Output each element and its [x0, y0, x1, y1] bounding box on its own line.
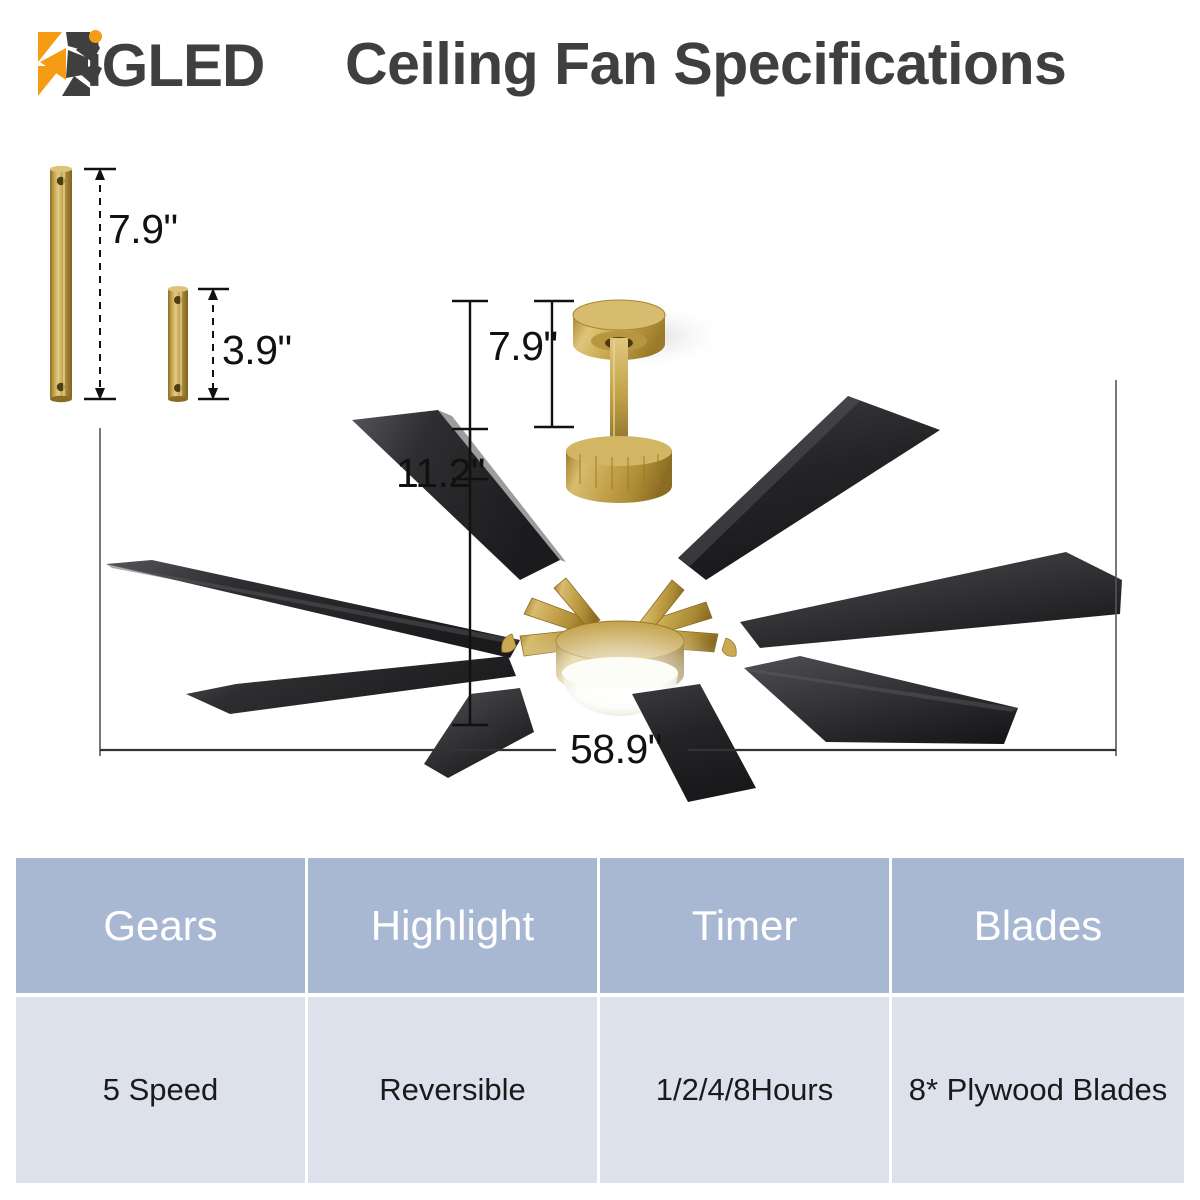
page-title: Ceiling Fan Specifications	[345, 30, 1066, 98]
table-header-row: Gears Highlight Timer Blades	[16, 858, 1184, 993]
column-header-highlight: Highlight	[308, 858, 600, 993]
cell-gears: 5 Speed	[16, 993, 308, 1183]
fan-blade	[424, 688, 534, 778]
page-header: iGLED Ceiling Fan Specifications	[0, 0, 1200, 128]
cell-highlight: Reversible	[308, 993, 600, 1183]
dimension-label-total-drop: 11.2"	[396, 450, 485, 497]
fan-blade	[744, 656, 1018, 744]
downrod-short-assembly	[168, 286, 188, 402]
brand-wordmark: iGLED	[86, 31, 264, 100]
logo-dot-icon	[89, 30, 102, 43]
fan-downrod	[610, 338, 628, 453]
dimension-label-motor-height: 7.9"	[488, 323, 558, 370]
fan-blade	[106, 564, 520, 644]
column-header-gears: Gears	[16, 858, 308, 993]
table-row: 5 Speed Reversible 1/2/4/8Hours 8* Plywo…	[16, 993, 1184, 1183]
column-header-timer: Timer	[600, 858, 892, 993]
dimension-downrod-long	[84, 168, 116, 400]
cell-timer: 1/2/4/8Hours	[600, 993, 892, 1183]
dimension-label-downrod-short: 3.9"	[222, 327, 292, 374]
specifications-table: Gears Highlight Timer Blades 5 Speed Rev…	[16, 858, 1184, 1183]
column-header-blades: Blades	[892, 858, 1184, 993]
cell-blades: 8* Plywood Blades	[892, 993, 1184, 1183]
fan-blade	[740, 552, 1122, 648]
dimension-label-downrod-long: 7.9"	[108, 206, 178, 253]
brand-wordmark-text: iGLED	[86, 32, 264, 99]
fan-blade	[678, 396, 940, 580]
ceiling-fan-dimension-diagram: 7.9" 3.9" 7.9" 11.2" 58.9"	[0, 128, 1200, 843]
fan-blade	[106, 560, 520, 658]
downrod-long-assembly	[50, 166, 72, 402]
fan-motor-housing	[566, 436, 672, 503]
dimension-label-blade-span: 58.9"	[570, 726, 662, 773]
